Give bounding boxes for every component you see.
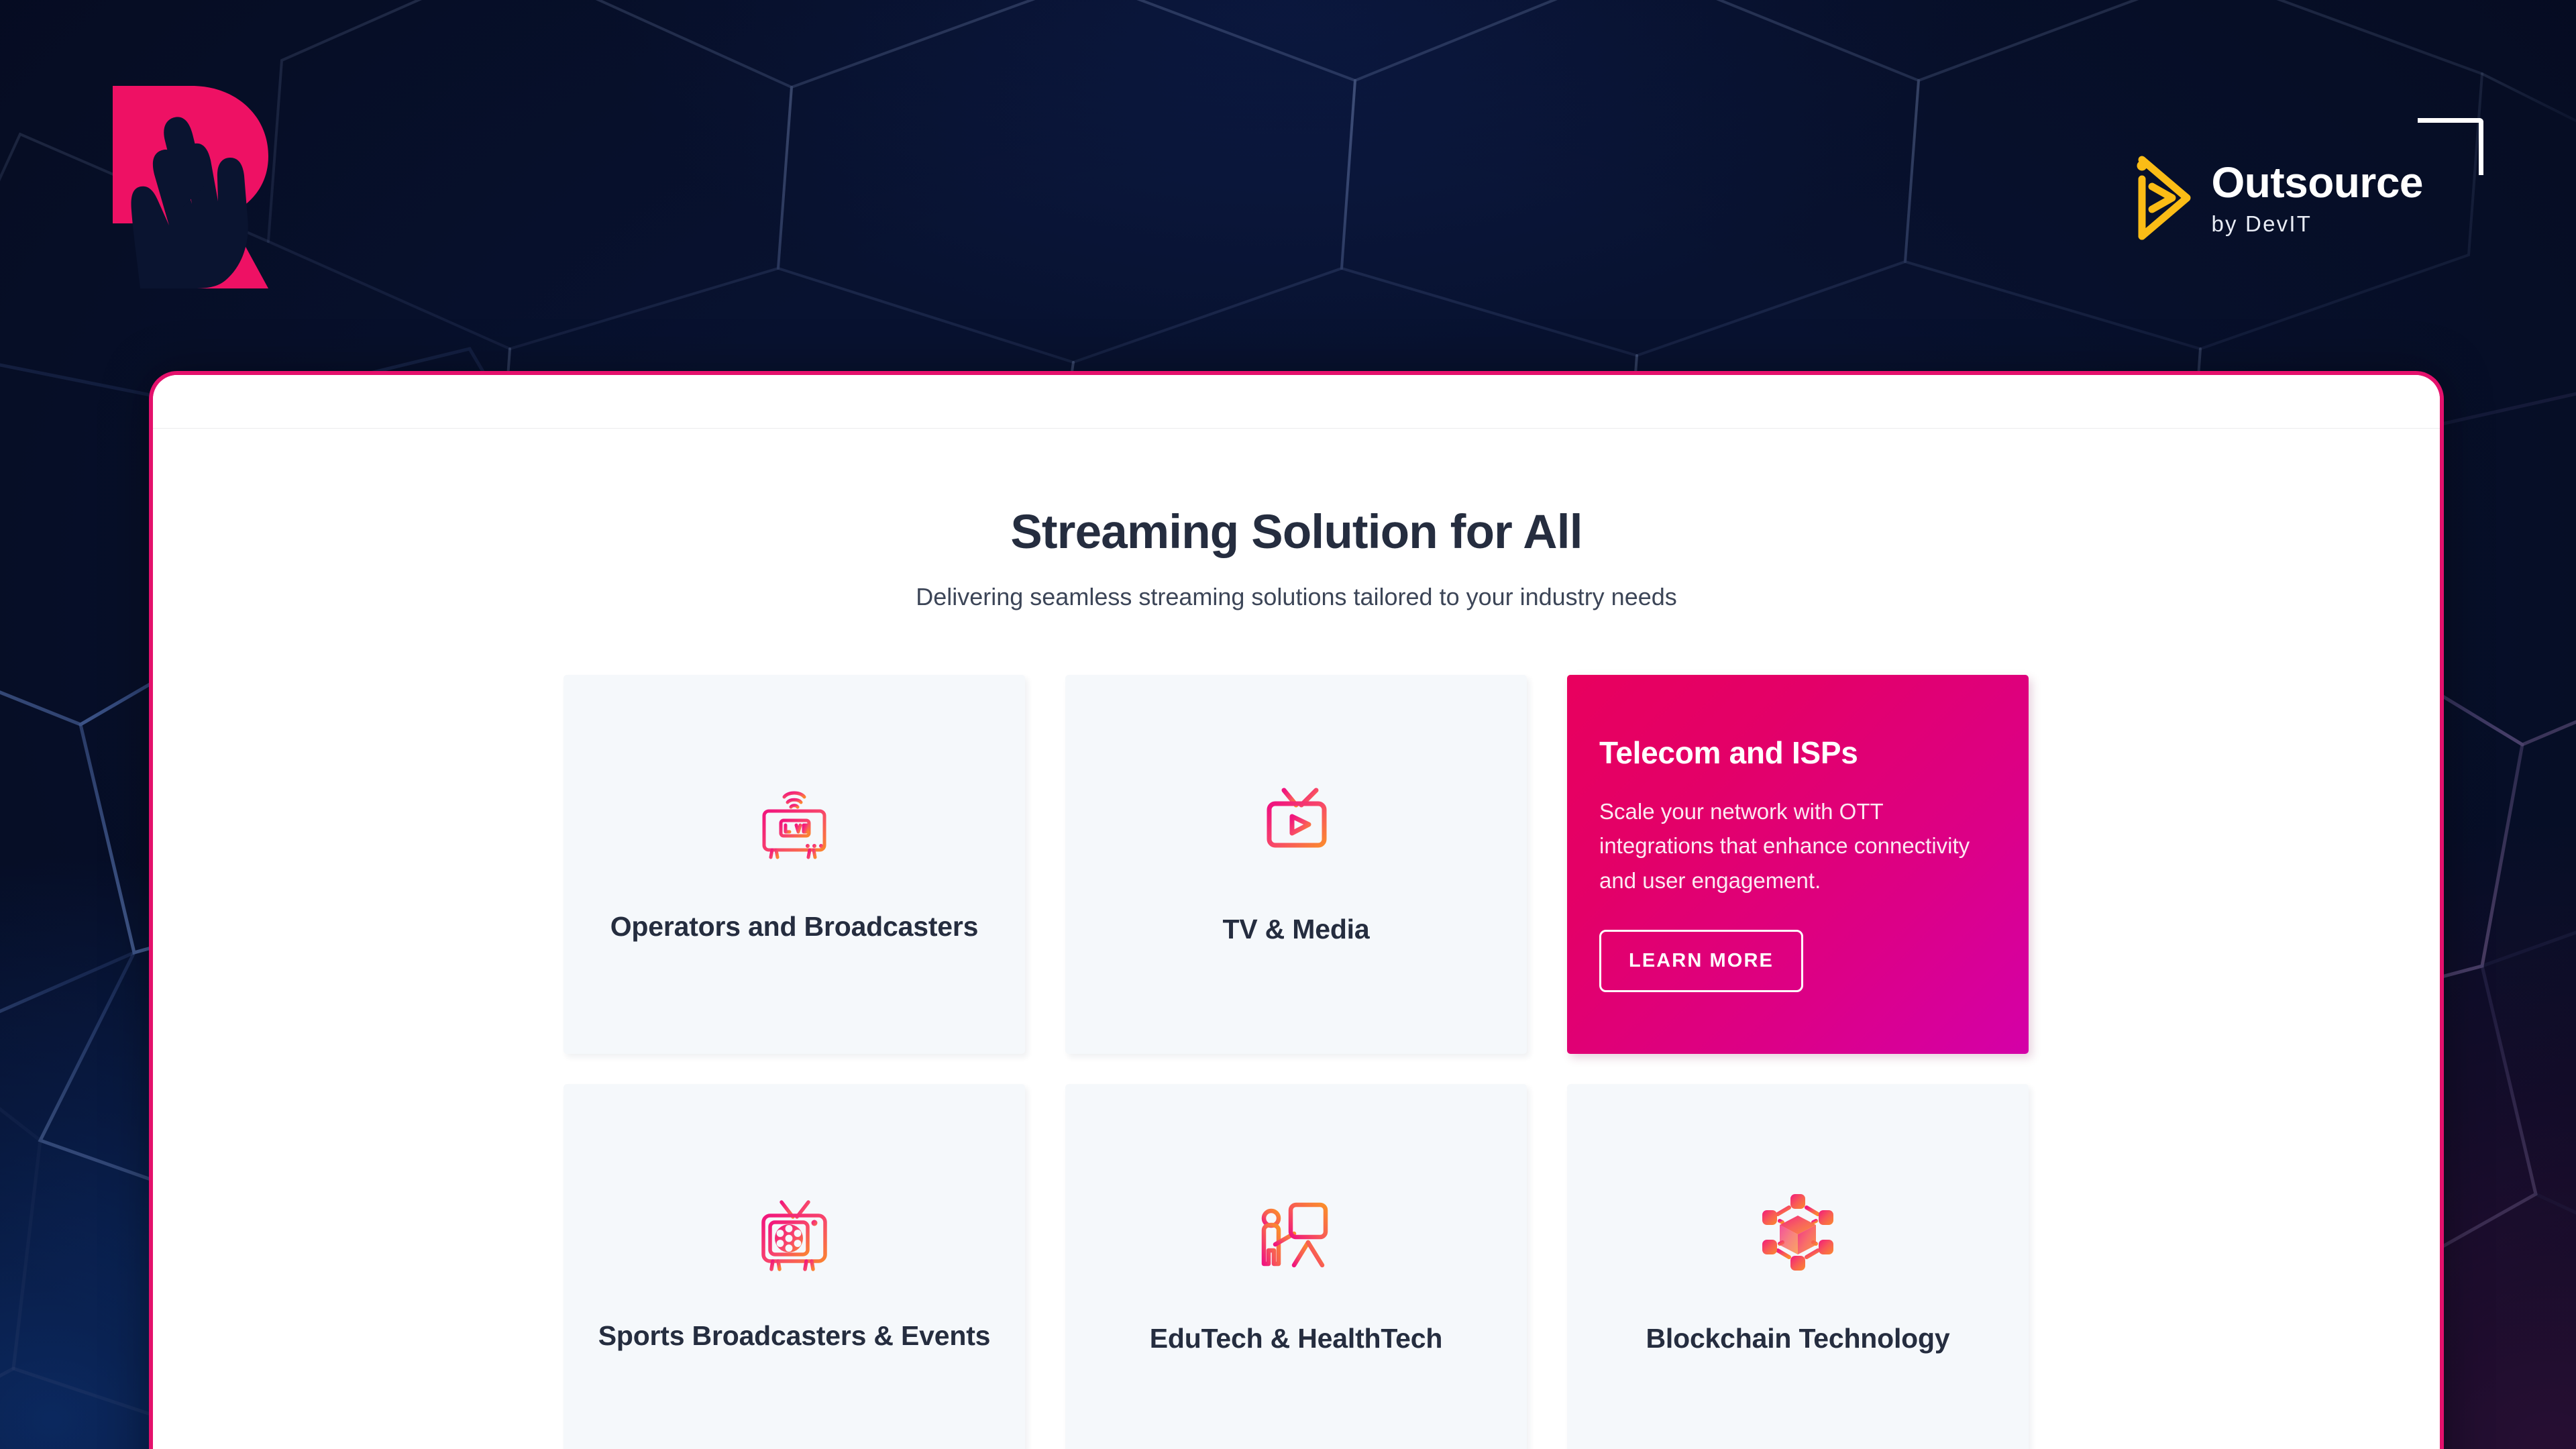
card-tv-and-media[interactable]: TV & Media	[1065, 675, 1527, 1054]
presenter-whiteboard-icon	[1252, 1189, 1340, 1276]
featured-card-title: Telecom and ISPs	[1599, 736, 1858, 770]
page-title: Streaming Solution for All	[153, 508, 2440, 558]
card-label: Operators and Broadcasters	[610, 908, 979, 946]
corner-bracket-icon	[2418, 118, 2483, 175]
industry-card-grid: Operators and Broadcasters	[563, 675, 2029, 1449]
card-blockchain-technology[interactable]: Blockchain Technology	[1567, 1084, 2029, 1449]
retro-tv-film-reel-icon	[751, 1191, 838, 1279]
outsource-logo-subtitle: by DevIT	[2211, 213, 2423, 235]
page-content: Streaming Solution for All Delivering se…	[153, 429, 2440, 1449]
card-label: Sports Broadcasters & Events	[598, 1318, 991, 1355]
card-label: Blockchain Technology	[1646, 1320, 1950, 1358]
card-operators-and-broadcasters[interactable]: Operators and Broadcasters	[563, 675, 1025, 1054]
outsource-by-devit-logo[interactable]: Outsource by DevIT	[2125, 144, 2423, 252]
live-broadcast-monitor-icon	[751, 782, 838, 869]
header-bar: Outsource by DevIT	[0, 0, 2576, 362]
i-chevron-play-mark-icon	[2125, 144, 2194, 252]
tv-play-icon	[1252, 780, 1340, 867]
card-sports-broadcasters-and-events[interactable]: Sports Broadcasters & Events	[563, 1084, 1025, 1449]
device-frame-panel: Streaming Solution for All Delivering se…	[149, 371, 2444, 1449]
outsource-logo-title: Outsource	[2211, 161, 2423, 204]
blockchain-cube-nodes-icon	[1754, 1189, 1841, 1276]
card-edutech-and-healthtech[interactable]: EduTech & HealthTech	[1065, 1084, 1527, 1449]
card-telecom-and-isps[interactable]: Telecom and ISPs Scale your network with…	[1567, 675, 2029, 1054]
card-label: EduTech & HealthTech	[1150, 1320, 1442, 1358]
card-label: TV & Media	[1223, 911, 1370, 949]
rockstar-r-hand-logo-icon[interactable]	[113, 86, 268, 288]
learn-more-button[interactable]: LEARN MORE	[1599, 930, 1803, 992]
panel-top-divider	[153, 375, 2440, 429]
page-subtitle: Delivering seamless streaming solutions …	[153, 583, 2440, 611]
featured-card-description: Scale your network with OTT integrations…	[1599, 794, 1996, 898]
